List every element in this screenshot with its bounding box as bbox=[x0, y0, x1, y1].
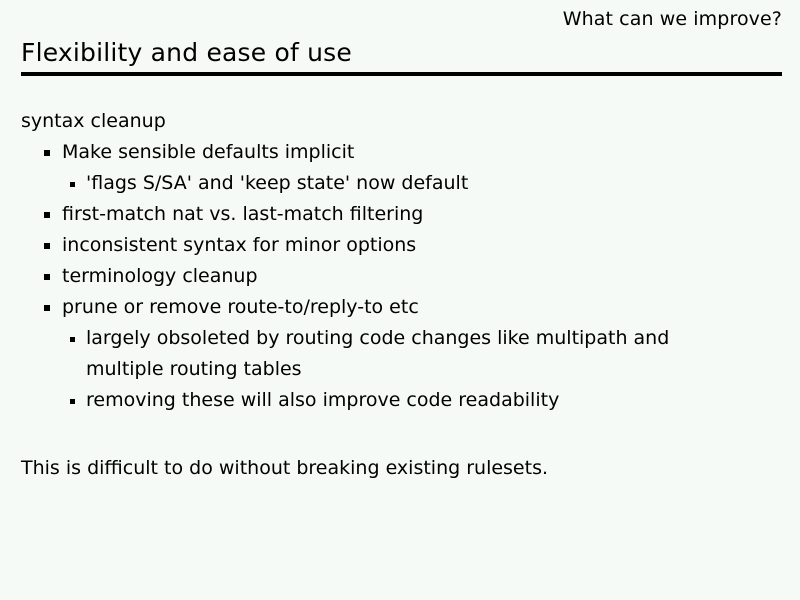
list-item-label: removing these will also improve code re… bbox=[86, 385, 714, 416]
list-item-label: inconsistent syntax for minor options bbox=[62, 230, 781, 261]
slide-header-kicker: What can we improve? bbox=[563, 8, 782, 30]
list-item: Make sensible defaults implicit bbox=[44, 137, 781, 168]
closing-note: This is difficult to do without breaking… bbox=[21, 455, 548, 481]
list-item-label: largely obsoleted by routing code change… bbox=[86, 323, 714, 385]
page-title: Flexibility and ease of use bbox=[21, 38, 352, 68]
list-item-label: first-match nat vs. last-match filtering bbox=[62, 199, 781, 230]
list-item: removing these will also improve code re… bbox=[70, 385, 781, 416]
list-item: 'flags S/SA' and 'keep state' now defaul… bbox=[70, 168, 781, 199]
presentation-slide: What can we improve? Flexibility and eas… bbox=[0, 0, 800, 600]
list-item-label: Make sensible defaults implicit bbox=[62, 137, 781, 168]
bullet-list: syntax cleanupMake sensible defaults imp… bbox=[21, 106, 781, 416]
list-item: terminology cleanup bbox=[44, 261, 781, 292]
list-item-label: terminology cleanup bbox=[62, 261, 781, 292]
title-divider bbox=[21, 72, 782, 76]
list-item: first-match nat vs. last-match filtering bbox=[44, 199, 781, 230]
list-item: syntax cleanup bbox=[21, 106, 781, 137]
list-item-label: syntax cleanup bbox=[21, 106, 781, 137]
list-item: prune or remove route-to/reply-to etc bbox=[44, 292, 781, 323]
list-item-label: 'flags S/SA' and 'keep state' now defaul… bbox=[86, 168, 714, 199]
list-item: inconsistent syntax for minor options bbox=[44, 230, 781, 261]
list-item: largely obsoleted by routing code change… bbox=[70, 323, 781, 385]
list-item-label: prune or remove route-to/reply-to etc bbox=[62, 292, 781, 323]
